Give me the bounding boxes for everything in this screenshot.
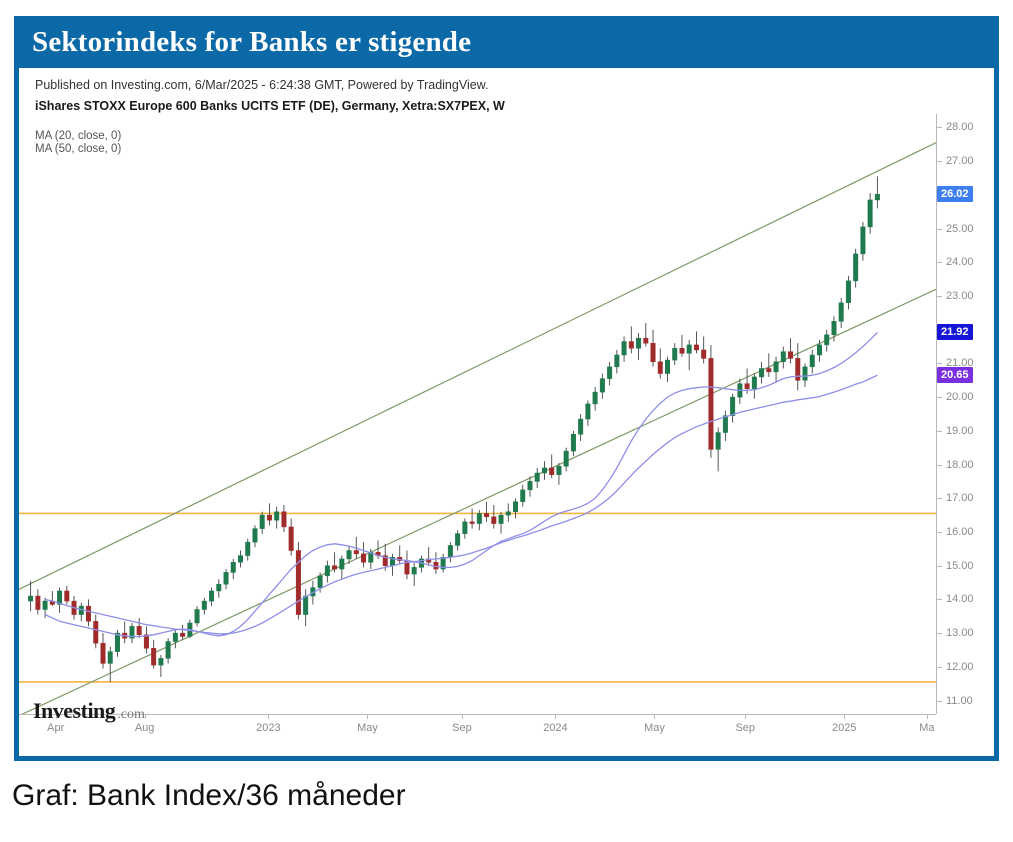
candle-body	[325, 566, 329, 576]
time-tick-label: May	[357, 722, 378, 734]
candle-body	[28, 596, 32, 601]
candle-body	[636, 338, 640, 348]
candle-body	[253, 529, 257, 542]
price-tick	[936, 127, 942, 128]
candle-body	[774, 362, 778, 372]
candlestick-svg	[19, 114, 936, 714]
price-tick-label: 14.00	[946, 593, 974, 605]
candle-body	[354, 551, 358, 554]
candle-body	[65, 591, 69, 601]
page-title: Sektorindeks for Banks er stigende	[32, 26, 471, 59]
candle-body	[195, 610, 199, 623]
candle-body	[289, 527, 293, 551]
candle-body	[535, 473, 539, 481]
price-tick-label: 19.00	[946, 425, 974, 437]
time-tick-label: 2023	[256, 722, 280, 734]
candle-body	[665, 360, 669, 373]
candle-body	[412, 567, 416, 574]
candle-body	[651, 343, 655, 362]
price-tick	[936, 667, 942, 668]
channel-lower-line	[19, 289, 936, 714]
instrument-line: iShares STOXX Europe 600 Banks UCITS ETF…	[35, 99, 505, 113]
chart-canvas: Published on Investing.com, 6/Mar/2025 -…	[19, 68, 994, 756]
price-tick	[936, 498, 942, 499]
price-tick	[936, 566, 942, 567]
time-axis[interactable]: AprAug2023MaySep2024MaySep2025Ma	[19, 714, 994, 754]
candle-body	[361, 554, 365, 562]
price-tick	[936, 701, 942, 702]
candle-body	[875, 194, 879, 200]
time-tick-label: Sep	[735, 722, 755, 734]
time-tick	[654, 714, 655, 719]
figure-caption: Graf: Bank Index/36 måneder	[12, 779, 406, 813]
candle-body	[564, 451, 568, 466]
screenshot-root: Sektorindeks for Banks er stigende Publi…	[0, 0, 1013, 842]
candle-body	[151, 648, 155, 665]
candle-body	[101, 643, 105, 663]
time-tick	[367, 714, 368, 719]
candle-body	[716, 433, 720, 450]
candle-body	[159, 658, 163, 665]
candle-body	[767, 368, 771, 371]
price-tick	[936, 599, 942, 600]
candle-body	[868, 200, 872, 227]
candle-body	[499, 515, 503, 523]
trend-channel-group	[19, 143, 936, 714]
price-tick-label: 17.00	[946, 492, 974, 504]
candle-body	[455, 534, 459, 546]
candle-body	[528, 481, 532, 489]
candle-body	[709, 358, 713, 449]
candle-body	[267, 515, 271, 520]
last-price-badge[interactable]: 26.02	[937, 186, 973, 202]
candle-body	[549, 468, 553, 475]
candle-body	[629, 342, 633, 349]
candle-body	[209, 591, 213, 601]
candle-body	[853, 254, 857, 281]
candle-body	[217, 584, 221, 591]
price-tick	[936, 397, 942, 398]
candle-body	[463, 522, 467, 534]
ma50-line	[45, 375, 877, 634]
price-tick	[936, 296, 942, 297]
price-axis-line	[936, 114, 937, 714]
price-tick	[936, 633, 942, 634]
candle-body	[593, 392, 597, 404]
candle-body	[752, 377, 756, 389]
candle-body	[303, 596, 307, 615]
candle-body	[658, 362, 662, 374]
candle-body	[347, 551, 351, 559]
watermark-logo-text: Investing	[33, 698, 115, 724]
candle-body	[513, 502, 517, 512]
candles-group	[28, 176, 879, 682]
candle-body	[492, 517, 496, 524]
time-tick-label: May	[644, 722, 665, 734]
candle-body	[600, 379, 604, 392]
time-tick-label: Sep	[452, 722, 472, 734]
candle-body	[832, 321, 836, 334]
candle-body	[224, 572, 228, 584]
candle-body	[723, 416, 727, 433]
candle-body	[730, 397, 734, 416]
candle-body	[318, 576, 322, 588]
candle-body	[260, 515, 264, 528]
price-tick-label: 20.00	[946, 391, 974, 403]
candle-body	[86, 606, 90, 621]
investing-watermark: Investing .com	[33, 698, 145, 724]
candle-body	[694, 345, 698, 350]
candle-body	[745, 384, 749, 389]
price-tick-label: 28.00	[946, 121, 974, 133]
candle-body	[578, 419, 582, 434]
candle-body	[817, 345, 821, 355]
horizontal-levels-group	[19, 513, 936, 682]
price-tick	[936, 229, 942, 230]
candle-body	[166, 642, 170, 659]
candle-body	[846, 281, 850, 303]
candle-body	[839, 303, 843, 322]
candle-body	[672, 348, 676, 360]
card-title-bar: Sektorindeks for Banks er stigende	[14, 16, 999, 68]
candle-body	[586, 404, 590, 419]
time-axis-line	[19, 714, 936, 715]
price-tick	[936, 363, 942, 364]
price-tick-label: 25.00	[946, 223, 974, 235]
candle-body	[282, 512, 286, 527]
price-tick-label: 27.00	[946, 155, 974, 167]
watermark-logo-suffix: .com	[117, 707, 145, 723]
candle-body	[231, 562, 235, 572]
time-tick-label: 2025	[832, 722, 856, 734]
price-tick	[936, 161, 942, 162]
candle-body	[448, 545, 452, 557]
candle-body	[644, 338, 648, 343]
time-tick	[844, 714, 845, 719]
candle-body	[810, 355, 814, 367]
price-tick-label: 23.00	[946, 290, 974, 302]
candle-body	[202, 601, 206, 609]
price-tick-label: 11.00	[946, 695, 973, 707]
price-plot[interactable]	[19, 114, 936, 714]
candle-body	[94, 621, 98, 643]
time-tick	[745, 714, 746, 719]
candle-body	[274, 512, 278, 520]
price-tick-label: 12.00	[946, 661, 974, 673]
candle-body	[506, 512, 510, 515]
ma50-value-badge[interactable]: 20.65	[937, 367, 973, 383]
price-tick	[936, 262, 942, 263]
price-tick	[936, 431, 942, 432]
price-tick	[936, 532, 942, 533]
candle-body	[332, 566, 336, 569]
candle-body	[861, 227, 865, 254]
time-tick	[555, 714, 556, 719]
candle-body	[557, 466, 561, 474]
price-tick-label: 15.00	[946, 560, 974, 572]
candle-body	[701, 350, 705, 358]
candle-body	[788, 352, 792, 359]
candle-body	[245, 542, 249, 555]
price-tick-label: 24.00	[946, 256, 974, 268]
candle-body	[115, 633, 119, 652]
candle-body	[803, 367, 807, 380]
candle-body	[36, 596, 40, 609]
candle-body	[759, 368, 763, 376]
candle-body	[521, 490, 525, 502]
candle-body	[571, 434, 575, 451]
candle-body	[173, 633, 177, 641]
price-axis[interactable]: 11.0012.0013.0014.0015.0016.0017.0018.00…	[936, 114, 994, 714]
price-tick-label: 18.00	[946, 459, 974, 471]
price-tick	[936, 465, 942, 466]
candle-body	[470, 522, 474, 524]
candle-body	[680, 348, 684, 353]
candle-body	[137, 626, 141, 634]
price-tick-label: 16.00	[946, 526, 974, 538]
time-tick	[268, 714, 269, 719]
candle-body	[180, 633, 184, 636]
time-tick	[462, 714, 463, 719]
candle-body	[43, 601, 47, 609]
candle-body	[144, 635, 148, 648]
candle-body	[824, 335, 828, 345]
candle-body	[477, 513, 481, 523]
candle-body	[238, 556, 242, 563]
time-tick-label: Ma	[919, 722, 934, 734]
time-tick	[927, 714, 928, 719]
candle-body	[615, 355, 619, 367]
candle-body	[607, 367, 611, 379]
ma20-value-badge[interactable]: 21.92	[937, 324, 973, 340]
candle-body	[781, 352, 785, 362]
time-tick-label: 2024	[543, 722, 567, 734]
candle-body	[340, 559, 344, 569]
candle-body	[542, 468, 546, 473]
candle-body	[108, 652, 112, 664]
candle-body	[687, 345, 691, 353]
candle-body	[484, 513, 488, 516]
candle-body	[622, 342, 626, 355]
price-tick-label: 13.00	[946, 627, 974, 639]
published-line: Published on Investing.com, 6/Mar/2025 -…	[35, 78, 489, 92]
